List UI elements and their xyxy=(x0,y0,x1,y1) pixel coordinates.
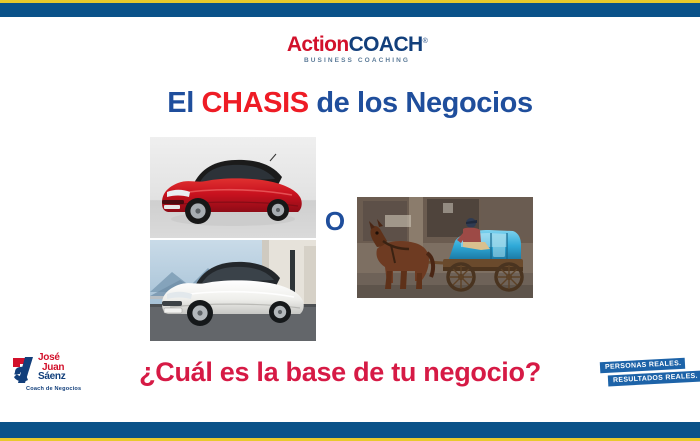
closing-question: ¿Cuál es la base de tu negocio? xyxy=(85,357,595,388)
headline-part-1: El xyxy=(167,87,201,119)
actioncoach-coach-text: COACH xyxy=(349,33,423,56)
photo-white-car xyxy=(150,240,316,341)
slide-headline: El CHASIS de los Negocios xyxy=(0,88,700,120)
ribbon-resultados-reales: RESULTADOS REALES. xyxy=(608,371,700,387)
js-monogram-icon xyxy=(12,355,38,385)
bottom-blue-bar xyxy=(0,422,700,438)
slide-canvas: ActionCOACH® BUSINESS COACHING El CHASIS… xyxy=(0,0,700,441)
photo-horse-cart xyxy=(357,197,533,298)
photo-red-car xyxy=(150,137,316,238)
coach-logo: José Juan Sáenz Coach de Negocios xyxy=(12,353,92,399)
red-car-illustration xyxy=(150,137,316,238)
actioncoach-action-text: Action xyxy=(287,33,349,56)
headline-highlight: CHASIS xyxy=(202,87,309,119)
top-blue-bar xyxy=(0,3,700,17)
tagline-ribbons: PERSONAS REALES. RESULTADOS REALES. xyxy=(600,358,696,390)
coach-role-label: Coach de Negocios xyxy=(26,386,81,392)
horse-cart-illustration xyxy=(357,197,533,298)
actioncoach-tagline: BUSINESS COACHING xyxy=(282,58,432,65)
coach-name-block: José Juan Sáenz xyxy=(38,353,65,382)
or-separator: O xyxy=(318,208,352,234)
coach-name-line-3: Sáenz xyxy=(38,372,65,382)
ribbon-personas-reales: PERSONAS REALES. xyxy=(600,358,686,373)
actioncoach-wordmark: ActionCOACH® xyxy=(282,34,432,55)
registered-trademark-icon: ® xyxy=(423,38,428,45)
white-car-illustration xyxy=(150,240,316,341)
headline-part-2: de los Negocios xyxy=(309,87,533,119)
actioncoach-logo: ActionCOACH® BUSINESS COACHING xyxy=(282,34,432,65)
